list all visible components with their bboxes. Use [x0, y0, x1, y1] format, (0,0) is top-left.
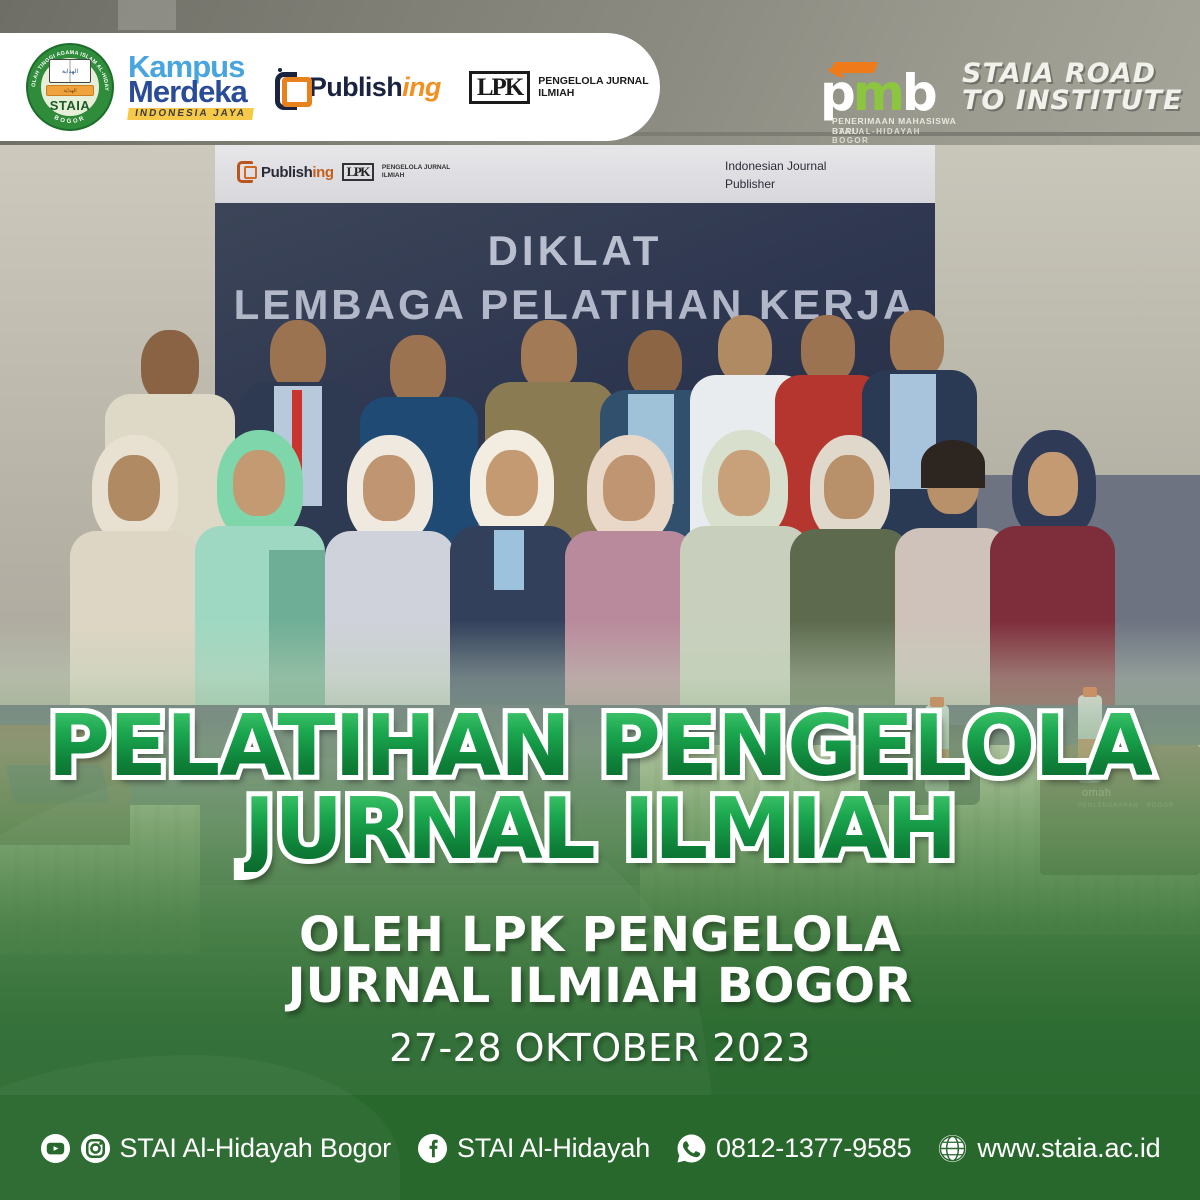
contact-footer: STAI Al-Hidayah Bogor STAI Al-Hidayah 08…: [0, 1118, 1200, 1178]
event-date: 27-28 OKTOBER 2023: [0, 1026, 1200, 1070]
photo-banner-lpk-sub1: PENGELOLA JURNAL: [382, 164, 450, 172]
backdrop-text-line1: DIKLAT: [215, 227, 935, 275]
seal-book-icon: الهداية: [49, 59, 91, 83]
ceiling-panel: [118, 0, 176, 30]
contact-label-phone: 0812-1377-9585: [716, 1133, 911, 1164]
publishing-text-dark: Publish: [309, 72, 402, 102]
photo-banner-lpk-sub2: ILMIAH: [382, 172, 450, 180]
staia-road-banner: STAIA ROAD TO INSTITUTE: [962, 60, 1192, 114]
pmb-logo: pmb PENERIMAAN MAHASISWA BARU STAI AL-HI…: [820, 62, 960, 140]
seal-ribbon-text: الهداية: [63, 88, 76, 94]
pmb-sub-line2: STAI AL-HIDAYAH BOGOR: [832, 127, 960, 145]
subtitle-line-2: JURNAL ILMIAH BOGOR: [0, 961, 1200, 1012]
kampus-merdeka-tagline: INDONESIA JAYA: [127, 108, 254, 120]
header-logo-pill: SEKOLAH TINGGI AGAMA ISLAM AL-HIDAYAH BO…: [0, 33, 660, 141]
youtube-icon[interactable]: [40, 1133, 71, 1164]
kampus-merdeka-line2: Merdeka: [128, 79, 253, 104]
title-line-2-wrap: JURNAL ILMIAH JURNAL ILMIAH: [0, 788, 1200, 871]
title-line-1: PELATIHAN PENGELOLA: [48, 705, 1153, 788]
contact-whatsapp[interactable]: 0812-1377-9585: [676, 1133, 911, 1164]
photo-top-banner: Publishing LPK PENGELOLA JURNAL ILMIAH I…: [215, 145, 935, 203]
road-banner-line1: STAIA ROAD: [962, 60, 1192, 87]
contact-facebook[interactable]: STAI Al-Hidayah: [417, 1133, 650, 1164]
photo-banner-ijp-line1: Indonesian Journal: [725, 157, 826, 175]
kampus-merdeka-logo: Kampus Merdeka INDONESIA JAYA: [128, 54, 253, 120]
lpk-mark: LPK: [469, 71, 530, 104]
contact-label-facebook: STAI Al-Hidayah: [457, 1133, 650, 1164]
photo-banner-publishing-icon: [237, 161, 253, 183]
contact-label-social: STAI Al-Hidayah Bogor: [120, 1133, 391, 1164]
subtitle-block: OLEH LPK PENGELOLA JURNAL ILMIAH BOGOR 2…: [0, 910, 1200, 1070]
contact-social-handles[interactable]: STAI Al-Hidayah Bogor: [40, 1133, 391, 1164]
lpk-sub-line2: ILMIAH: [538, 87, 648, 99]
pmb-letter-p: p: [820, 64, 853, 122]
globe-icon[interactable]: [937, 1133, 968, 1164]
publishing-text-orange: ing: [402, 72, 441, 102]
facebook-icon[interactable]: [417, 1133, 448, 1164]
pmb-letter-m: m: [853, 64, 902, 122]
photo-banner-ijp-line2: Publisher: [725, 175, 826, 193]
lpk-sub-line1: PENGELOLA JURNAL: [538, 75, 648, 87]
publishing-logo: Publishing: [275, 70, 441, 104]
photo-banner-lpk-mark: LPK: [342, 163, 374, 181]
poster-root: SEKOLAH TINGGI AGAMA ISLAM AL-HIDAYAH BO…: [0, 0, 1200, 1200]
photo-banner-publishing-orange: ing: [312, 164, 333, 181]
publishing-mark-icon: [275, 70, 305, 104]
staia-seal-logo: SEKOLAH TINGGI AGAMA ISLAM AL-HIDAYAH BO…: [26, 43, 114, 131]
photo-banner-publishing-dark: Publish: [261, 164, 312, 181]
road-banner-line2: TO INSTITUTE: [962, 87, 1192, 114]
lpk-logo: LPK PENGELOLA JURNAL ILMIAH: [469, 71, 649, 104]
contact-label-website: www.staia.ac.id: [977, 1133, 1160, 1164]
subtitle-line-1: OLEH LPK PENGELOLA: [0, 910, 1200, 961]
title-line-1-wrap: PELATIHAN PENGELOLA PELATIHAN PENGELOLA: [0, 705, 1200, 788]
seal-center-text: STAIA: [50, 98, 91, 113]
seal-book-text: الهداية: [62, 68, 78, 75]
whatsapp-icon[interactable]: [676, 1133, 707, 1164]
title-line-2: JURNAL ILMIAH: [244, 788, 957, 871]
main-title-block: PELATIHAN PENGELOLA PELATIHAN PENGELOLA …: [0, 705, 1200, 872]
seal-ribbon: الهداية: [46, 85, 94, 96]
contact-website[interactable]: www.staia.ac.id: [937, 1133, 1160, 1164]
pmb-letter-b: b: [902, 64, 935, 122]
instagram-icon[interactable]: [80, 1133, 111, 1164]
